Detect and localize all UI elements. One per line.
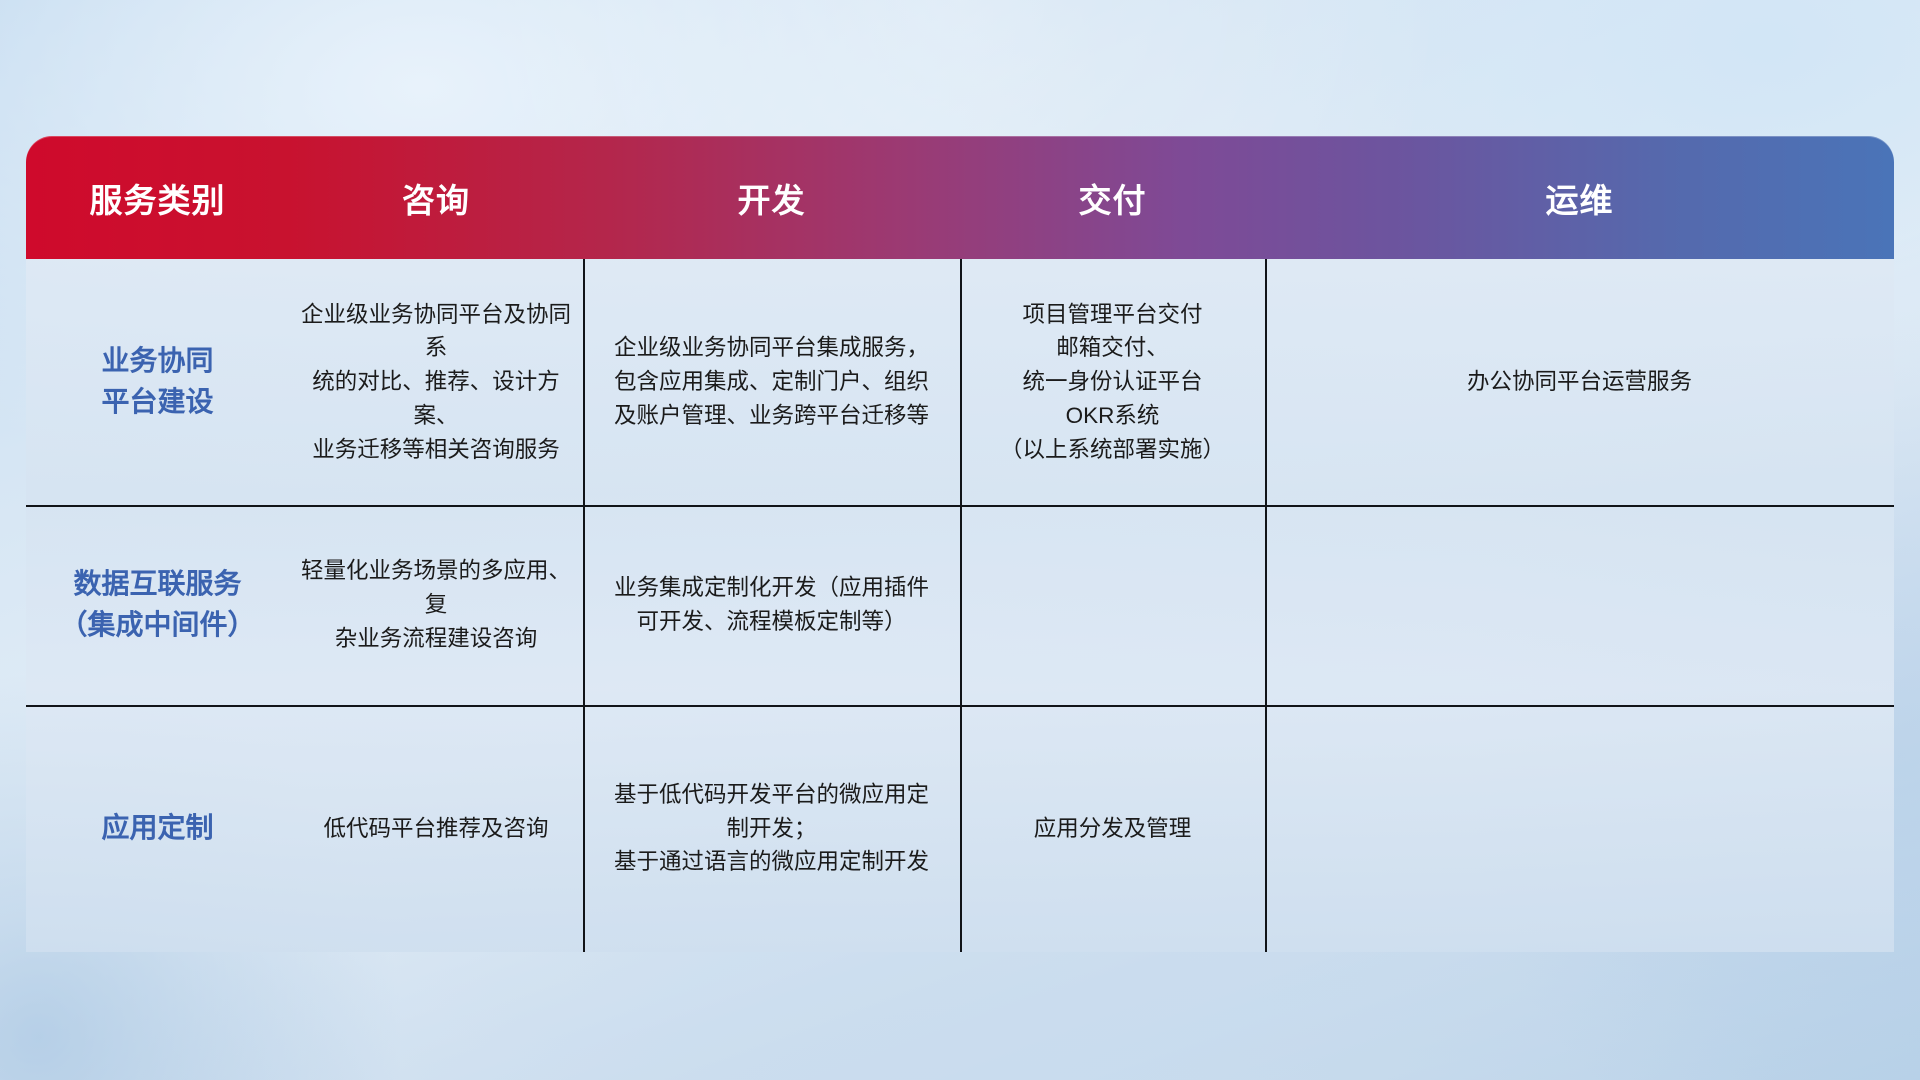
cell-consulting-row-2: 轻量化业务场景的多应用、复 杂业务流程建设咨询 — [289, 505, 583, 705]
header-cell-consulting: 咨询 — [289, 174, 583, 222]
cell-delivery-row-1: 项目管理平台交付 邮箱交付、 统一身份认证平台 OKR系统 （以上系统部署实施） — [960, 259, 1265, 505]
column-divider-1 — [583, 259, 585, 952]
header-cell-operations: 运维 — [1265, 174, 1894, 222]
header-cell-delivery: 交付 — [960, 174, 1265, 222]
cell-consulting-row-1: 企业级业务协同平台及协同系 统的对比、推荐、设计方案、 业务迁移等相关咨询服务 — [289, 259, 583, 505]
row-label-business-collaboration: 业务协同 平台建设 — [26, 259, 289, 505]
row-label-app-customization: 应用定制 — [26, 705, 289, 952]
row-label-data-interconnect: 数据互联服务 （集成中间件） — [26, 505, 289, 705]
column-divider-3 — [1265, 259, 1267, 952]
cell-development-row-3: 基于低代码开发平台的微应用定 制开发； 基于通过语言的微应用定制开发 — [583, 705, 960, 952]
cell-operations-row-3 — [1265, 705, 1894, 952]
cell-delivery-row-2 — [960, 505, 1265, 705]
table-body: 业务协同 平台建设 企业级业务协同平台及协同系 统的对比、推荐、设计方案、 业务… — [26, 259, 1894, 952]
cell-delivery-row-3: 应用分发及管理 — [960, 705, 1265, 952]
table-header-row: 服务类别 咨询 开发 交付 运维 — [26, 136, 1894, 259]
column-divider-2 — [960, 259, 962, 952]
service-matrix-table: 服务类别 咨询 开发 交付 运维 业务协同 平台建设 企业级业务协同平台及协同系… — [26, 136, 1894, 952]
header-cell-service-category: 服务类别 — [26, 174, 289, 222]
row-divider-1 — [26, 505, 1894, 507]
row-divider-2 — [26, 705, 1894, 707]
cell-development-row-2: 业务集成定制化开发（应用插件 可开发、流程模板定制等） — [583, 505, 960, 705]
cell-development-row-1: 企业级业务协同平台集成服务， 包含应用集成、定制门户、组织 及账户管理、业务跨平… — [583, 259, 960, 505]
cell-operations-row-2 — [1265, 505, 1894, 705]
cell-consulting-row-3: 低代码平台推荐及咨询 — [289, 705, 583, 952]
cell-operations-row-1: 办公协同平台运营服务 — [1265, 259, 1894, 505]
header-cell-development: 开发 — [583, 174, 960, 222]
slide-canvas: 服务类别 咨询 开发 交付 运维 业务协同 平台建设 企业级业务协同平台及协同系… — [0, 0, 1920, 1080]
